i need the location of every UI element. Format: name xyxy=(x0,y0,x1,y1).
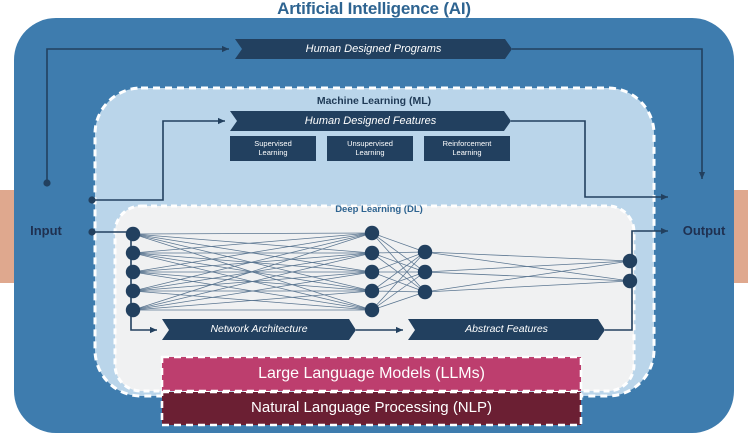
box-large-language-models[interactable] xyxy=(162,357,581,391)
box-abstract-features[interactable] xyxy=(408,319,605,340)
nn-node xyxy=(126,246,140,260)
box-unsupervised-learning[interactable] xyxy=(327,136,413,161)
nn-node xyxy=(126,265,140,279)
nn-node xyxy=(365,265,379,279)
nn-node xyxy=(126,303,140,317)
box-human-designed-features[interactable] xyxy=(230,111,511,131)
nn-node xyxy=(365,226,379,240)
box-reinforcement-learning[interactable] xyxy=(424,136,510,161)
nn-node xyxy=(126,284,140,298)
page-title: Artificial Intelligence (AI) xyxy=(0,0,748,20)
box-human-designed-programs[interactable] xyxy=(235,39,512,59)
diagram-canvas: Artificial Intelligence (AI) Machine Lea… xyxy=(0,0,748,435)
box-network-architecture[interactable] xyxy=(162,319,356,340)
nn-node xyxy=(365,246,379,260)
nn-node xyxy=(365,303,379,317)
box-supervised-learning[interactable] xyxy=(230,136,316,161)
nn-node xyxy=(418,285,432,299)
nn-node xyxy=(623,254,637,268)
nn-node xyxy=(418,245,432,259)
nn-node xyxy=(418,265,432,279)
nn-node xyxy=(623,274,637,288)
nn-node xyxy=(126,227,140,241)
nn-node xyxy=(365,284,379,298)
diagram-graphics xyxy=(0,0,748,435)
box-natural-language-processing[interactable] xyxy=(162,392,581,425)
